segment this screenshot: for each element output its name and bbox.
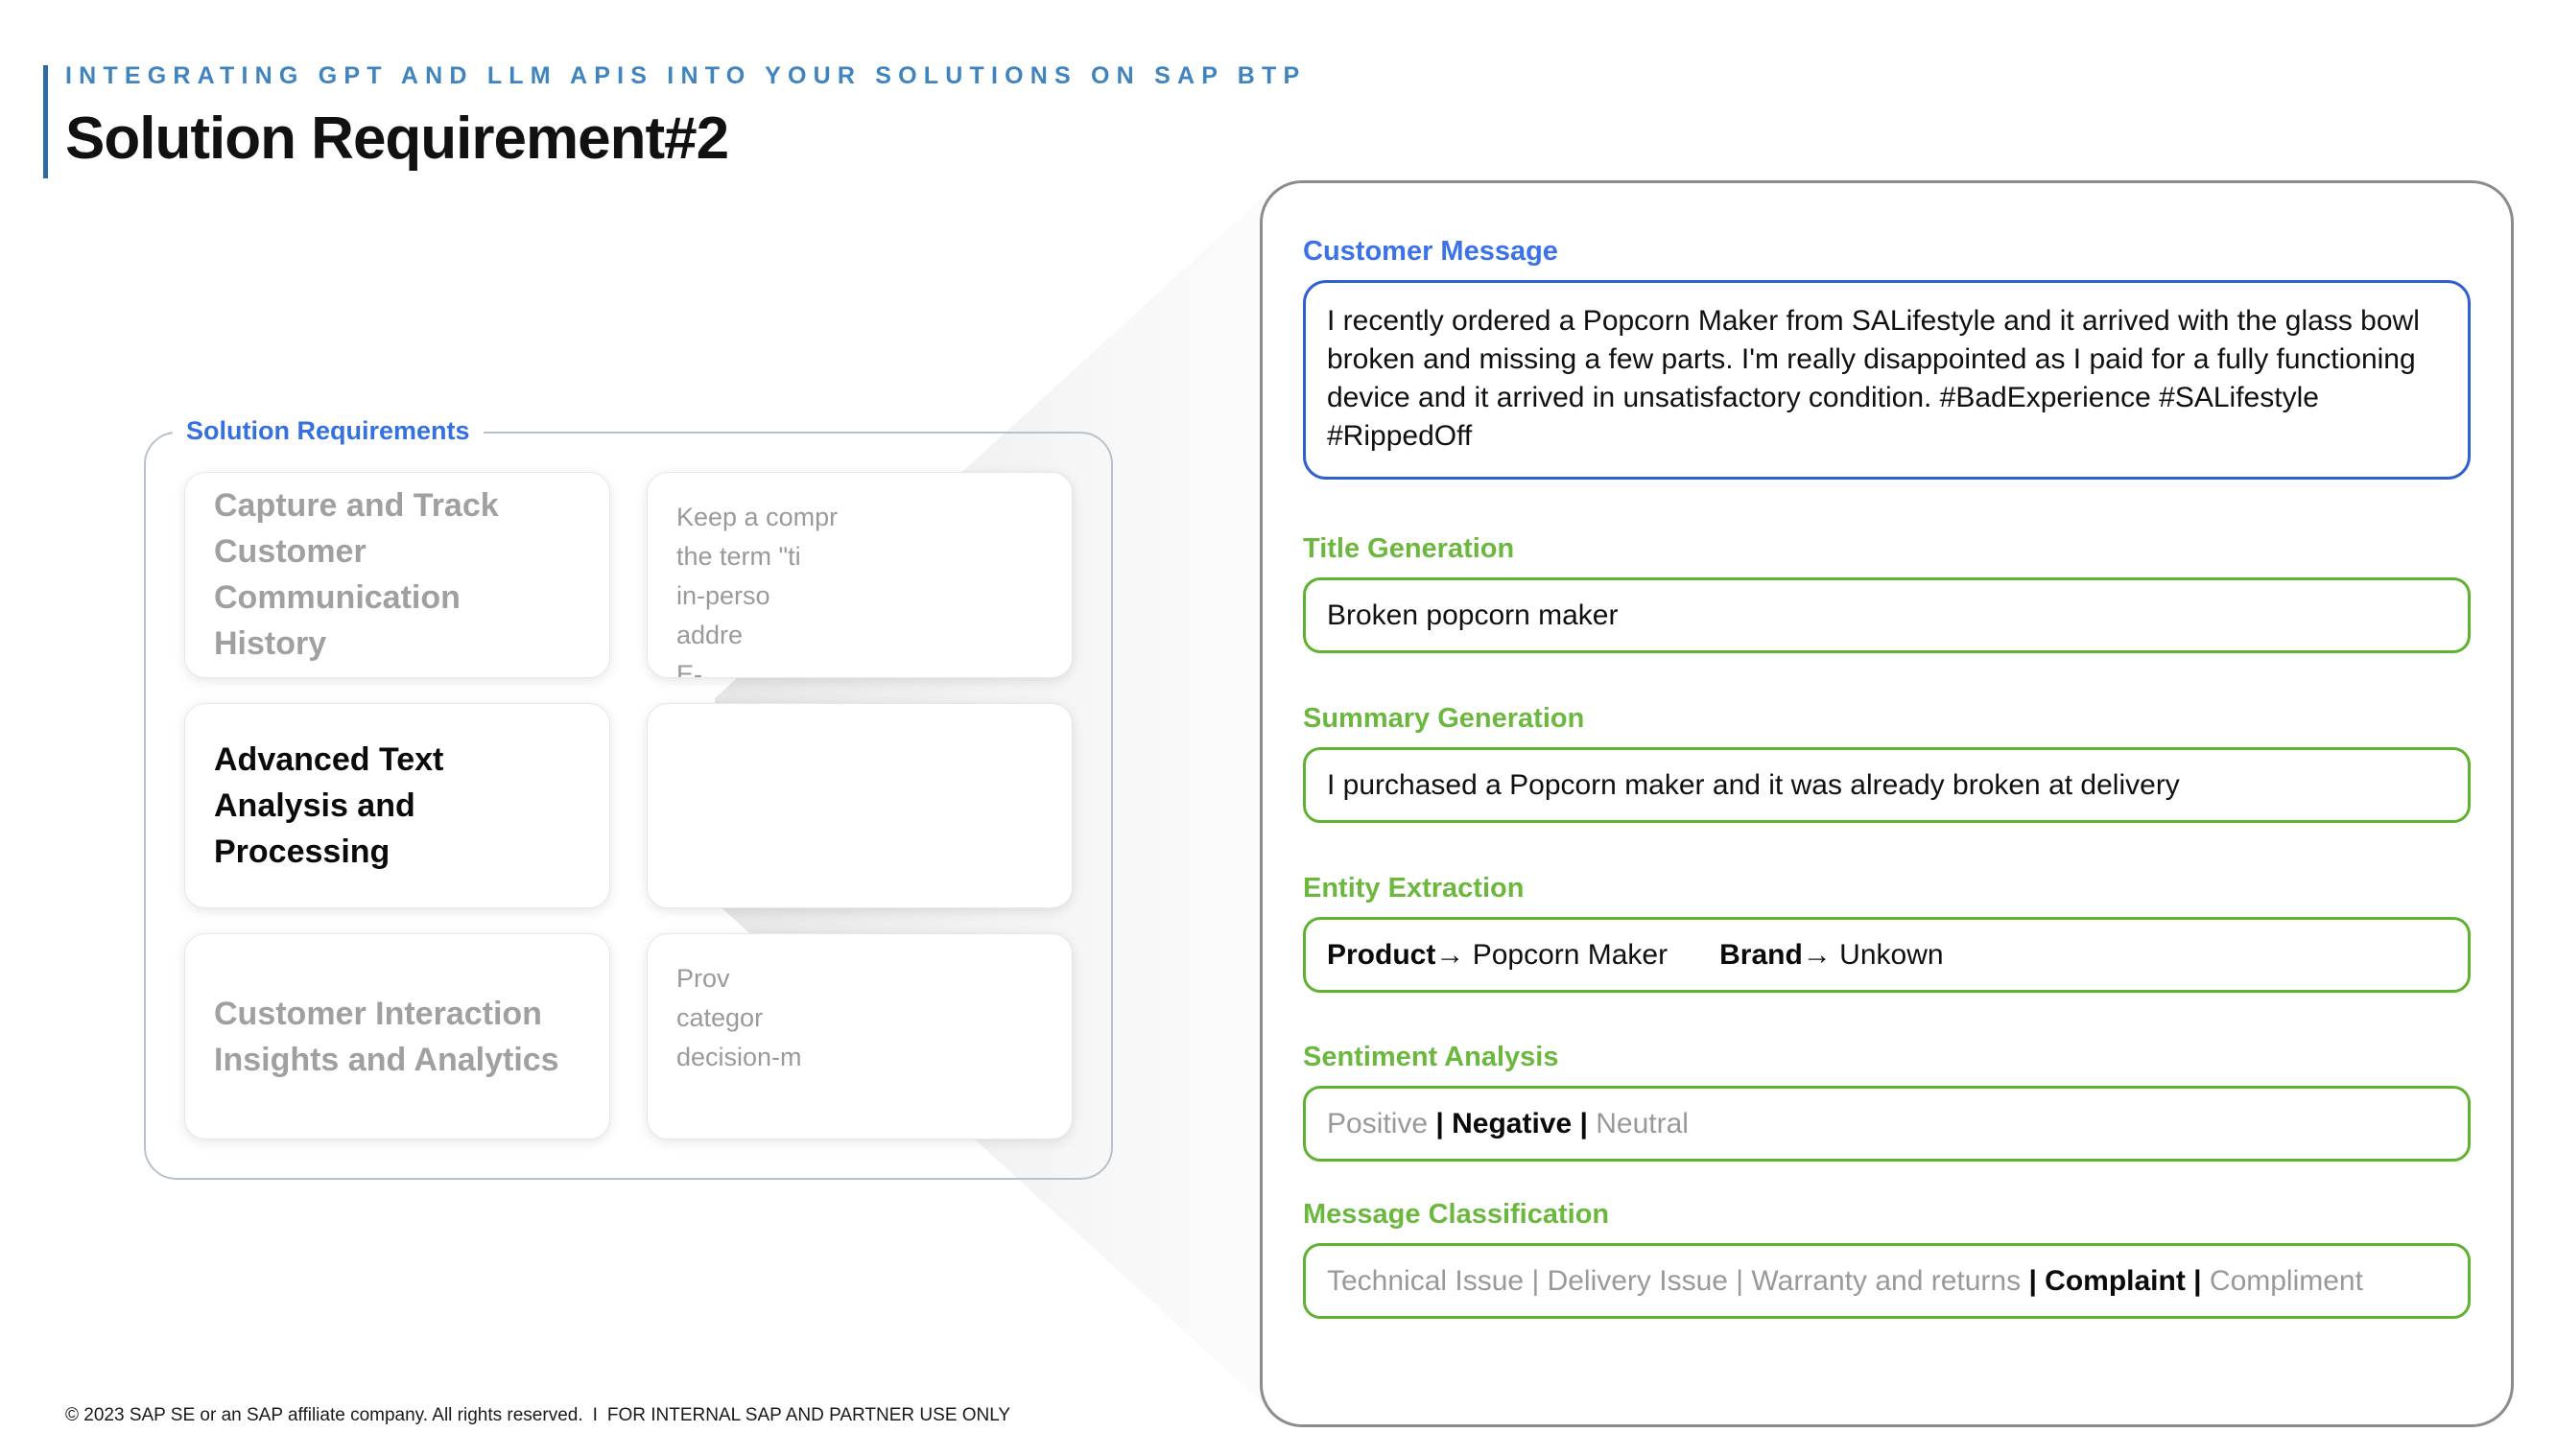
entity-arrow-product: → xyxy=(1435,939,1464,971)
sentiment-analysis-value: Positive | Negative | Neutral xyxy=(1327,1104,2447,1143)
customer-message-label: Customer Message xyxy=(1303,233,2471,270)
requirement-description-card-1[interactable]: Keep a compr the term "ti in-perso addre… xyxy=(647,472,1073,678)
requirement-card-title: Customer Interaction Insights and Analyt… xyxy=(214,991,580,1083)
entity-key-brand: Brand xyxy=(1719,939,1803,971)
title-generation-box[interactable]: Broken popcorn maker xyxy=(1303,577,2471,653)
entity-value-product: Popcorn Maker xyxy=(1473,939,1668,971)
section-sentiment-analysis: Sentiment Analysis Positive | Negative |… xyxy=(1303,1039,2471,1162)
summary-generation-value: I purchased a Popcorn maker and it was a… xyxy=(1327,765,2447,805)
sentiment-option-positive: Positive xyxy=(1327,1108,1435,1139)
entity-extraction-value: Product→ Popcorn MakerBrand→ Unkown xyxy=(1327,935,2447,975)
requirement-card-title: Advanced Text Analysis and Processing xyxy=(214,737,580,875)
solution-requirements-panel: Solution Requirements Capture and Track … xyxy=(144,432,1113,1180)
requirement-description-text: Keep a compr the term "ti in-perso addre… xyxy=(676,498,838,678)
section-entity-extraction: Entity Extraction Product→ Popcorn Maker… xyxy=(1303,870,2471,993)
requirements-grid: Capture and Track Customer Communication… xyxy=(184,472,1073,1139)
footer: © 2023 SAP SE or an SAP affiliate compan… xyxy=(65,1403,1010,1428)
footer-copyright: © 2023 SAP SE or an SAP affiliate compan… xyxy=(65,1405,583,1425)
header-accent-bar xyxy=(43,65,48,178)
sentiment-option-neutral: Neutral xyxy=(1588,1108,1689,1139)
entity-value-brand: Unkown xyxy=(1839,939,1943,971)
entity-extraction-box[interactable]: Product→ Popcorn MakerBrand→ Unkown xyxy=(1303,917,2471,993)
detail-panel: Customer Message I recently ordered a Po… xyxy=(1260,180,2514,1427)
header: INTEGRATING GPT AND LLM APIS INTO YOUR S… xyxy=(65,59,1984,176)
sentiment-analysis-label: Sentiment Analysis xyxy=(1303,1039,2471,1075)
sentiment-option-negative-selected: | Negative | xyxy=(1435,1108,1588,1139)
section-message-classification: Message Classification Technical Issue |… xyxy=(1303,1196,2471,1319)
requirement-card-title: Capture and Track Customer Communication… xyxy=(214,482,580,667)
message-classification-box[interactable]: Technical Issue | Delivery Issue | Warra… xyxy=(1303,1243,2471,1319)
classification-options-unselected-pre: Technical Issue | Delivery Issue | Warra… xyxy=(1327,1265,2028,1297)
page-title: Solution Requirement#2 xyxy=(65,102,1984,176)
slide-canvas: INTEGRATING GPT AND LLM APIS INTO YOUR S… xyxy=(0,0,2556,1456)
message-classification-label: Message Classification xyxy=(1303,1196,2471,1233)
summary-generation-box[interactable]: I purchased a Popcorn maker and it was a… xyxy=(1303,747,2471,823)
footer-separator: I xyxy=(583,1405,607,1425)
customer-message-box[interactable]: I recently ordered a Popcorn Maker from … xyxy=(1303,280,2471,480)
requirement-card-customer-interaction-insights[interactable]: Customer Interaction Insights and Analyt… xyxy=(184,933,610,1139)
customer-message-text: I recently ordered a Popcorn Maker from … xyxy=(1327,302,2447,456)
title-generation-value: Broken popcorn maker xyxy=(1327,596,2447,635)
sentiment-analysis-box[interactable]: Positive | Negative | Neutral xyxy=(1303,1086,2471,1162)
requirement-card-advanced-text-analysis[interactable]: Advanced Text Analysis and Processing xyxy=(184,703,610,909)
solution-requirements-legend: Solution Requirements xyxy=(173,413,484,448)
summary-generation-label: Summary Generation xyxy=(1303,700,2471,737)
section-title-generation: Title Generation Broken popcorn maker xyxy=(1303,530,2471,653)
title-generation-label: Title Generation xyxy=(1303,530,2471,567)
section-summary-generation: Summary Generation I purchased a Popcorn… xyxy=(1303,700,2471,823)
requirement-description-text: Prov categor decision-m xyxy=(676,959,802,1077)
eyebrow-text: INTEGRATING GPT AND LLM APIS INTO YOUR S… xyxy=(65,59,1984,92)
message-classification-value: Technical Issue | Delivery Issue | Warra… xyxy=(1327,1261,2447,1301)
entity-arrow-brand: → xyxy=(1803,939,1832,971)
classification-option-complaint-selected: | Complaint | xyxy=(2028,1265,2201,1297)
entity-key-product: Product xyxy=(1327,939,1435,971)
classification-options-unselected-post: Compliment xyxy=(2202,1265,2363,1297)
requirement-description-card-3[interactable]: Prov categor decision-m xyxy=(647,933,1073,1139)
entity-extraction-label: Entity Extraction xyxy=(1303,870,2471,906)
section-customer-message: Customer Message I recently ordered a Po… xyxy=(1303,233,2471,480)
footer-notice: FOR INTERNAL SAP AND PARTNER USE ONLY xyxy=(607,1405,1010,1425)
requirement-description-card-2[interactable] xyxy=(647,703,1073,909)
requirement-card-capture-and-track[interactable]: Capture and Track Customer Communication… xyxy=(184,472,610,678)
